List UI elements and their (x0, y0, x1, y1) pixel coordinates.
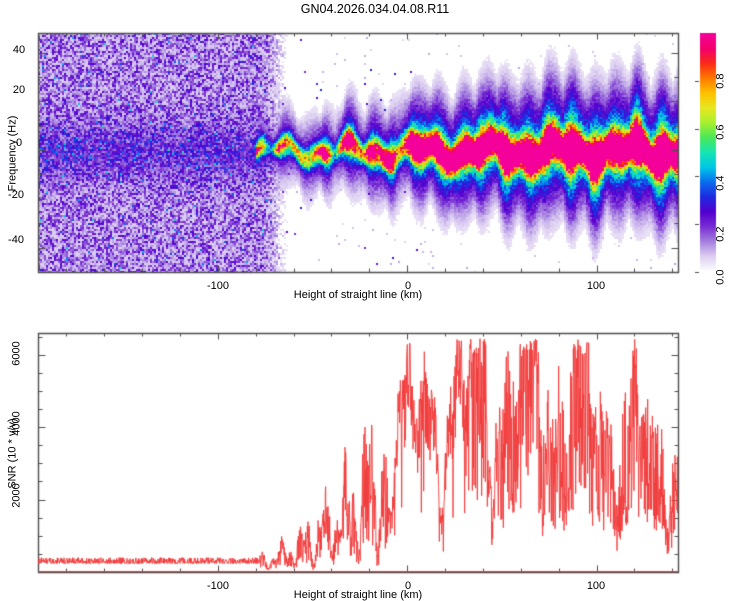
snr-ytick-4000: 4000 (12, 403, 23, 445)
spectrogram-xlabel: Height of straight line (km) (238, 290, 478, 301)
figure-title: GN04.2026.034.04.08.R11 (0, 3, 750, 16)
colorbar-tick-0.0: 0.0 (716, 270, 727, 294)
spectrogram-ytick-minus40: -40 (2, 235, 30, 246)
snr-xlabel: Height of straight line (km) (238, 590, 478, 601)
colorbar-tick-0.2: 0.2 (716, 227, 727, 251)
colorbar-tick-0.6: 0.6 (716, 125, 727, 149)
spectrogram-ytick-minus20: -20 (2, 190, 30, 201)
snr-ytick-2000: 2000 (12, 475, 23, 517)
spectrogram-ytick-20: 20 (8, 85, 30, 96)
snr-xtick-100: 100 (576, 581, 616, 592)
spectrogram-ytick-40: 40 (8, 45, 30, 56)
spectrogram-xtick-100: 100 (576, 281, 616, 292)
figure-container: GN04.2026.034.04.08.R11 Frequency (Hz) 4… (0, 0, 750, 600)
spectrogram-xtick-minus100: -100 (196, 281, 240, 292)
spectrogram-ytick-0: 0 (8, 138, 30, 149)
snr-xtick-minus100: -100 (196, 581, 240, 592)
colorbar-tick-0.8: 0.8 (716, 74, 727, 98)
colorbar-tick-0.4: 0.4 (716, 176, 727, 200)
spectrogram-ylabel: Frequency (Hz) (8, 109, 19, 199)
snr-ytick-6000: 6000 (12, 333, 23, 375)
